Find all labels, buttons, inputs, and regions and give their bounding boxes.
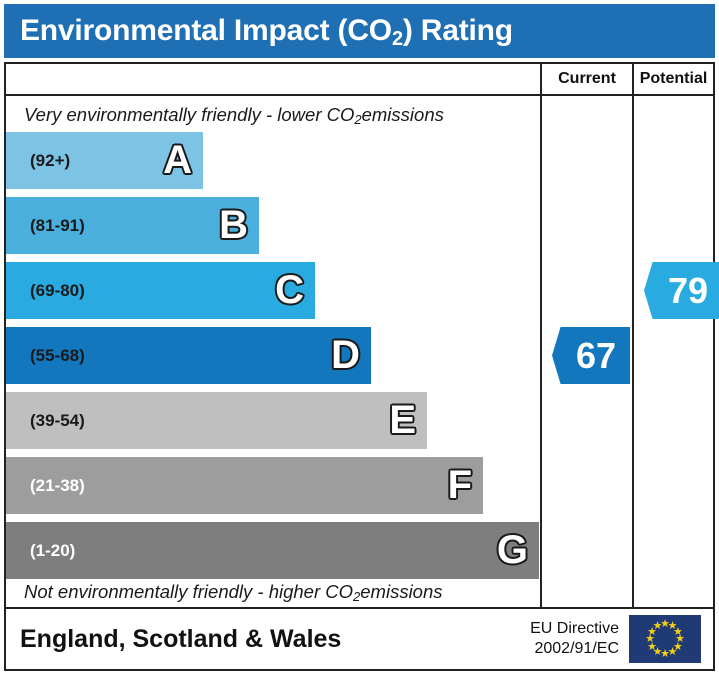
eu-flag-icon <box>629 615 701 663</box>
caption-bottom-prefix: Not environmentally friendly - higher CO <box>24 581 353 603</box>
rating-band-letter: F <box>448 465 472 505</box>
rating-band-a: (92+)A <box>6 132 203 189</box>
footer-directive-line2: 2002/91/EC <box>530 639 619 659</box>
caption-bottom-subscript: 2 <box>353 589 360 604</box>
column-header-current: Current <box>542 64 632 94</box>
epc-environmental-impact-chart: Environmental Impact (CO2) Rating Curren… <box>0 0 719 675</box>
current-rating-arrow: 67 <box>552 327 630 384</box>
footer-directive: EU Directive 2002/91/EC <box>530 619 629 658</box>
rating-band-letter: E <box>389 400 416 440</box>
column-divider-current <box>540 64 542 607</box>
page-title-suffix: ) Rating <box>403 14 513 47</box>
rating-band-range: (55-68) <box>6 346 85 366</box>
rating-band-range: (39-54) <box>6 411 85 431</box>
rating-band-range: (92+) <box>6 151 70 171</box>
caption-bottom-suffix: emissions <box>360 581 442 603</box>
rating-band-range: (81-91) <box>6 216 85 236</box>
column-header-row: Current Potential <box>6 64 713 96</box>
rating-band-letter: G <box>497 530 528 570</box>
caption-top-suffix: emissions <box>362 104 444 126</box>
rating-band-c: (69-80)C <box>6 262 315 319</box>
chart-footer: England, Scotland & Wales EU Directive 2… <box>4 609 715 671</box>
rating-band-e: (39-54)E <box>6 392 427 449</box>
rating-band-letter: D <box>331 335 360 375</box>
caption-top-subscript: 2 <box>354 112 361 127</box>
rating-band-range: (1-20) <box>6 541 75 561</box>
current-rating-value: 67 <box>576 338 630 374</box>
caption-top: Very environmentally friendly - lower CO… <box>24 100 534 130</box>
footer-region-label: England, Scotland & Wales <box>6 625 530 654</box>
caption-bottom: Not environmentally friendly - higher CO… <box>24 577 534 607</box>
rating-band-letter: C <box>275 270 304 310</box>
column-divider-potential <box>632 64 634 607</box>
potential-rating-value: 79 <box>668 273 719 309</box>
caption-top-prefix: Very environmentally friendly - lower CO <box>24 104 354 126</box>
page-title-subscript: 2 <box>392 28 403 50</box>
chart-title-banner: Environmental Impact (CO2) Rating <box>4 4 715 58</box>
potential-rating-arrow: 79 <box>644 262 719 319</box>
rating-band-letter: B <box>219 205 248 245</box>
rating-band-g: (1-20)G <box>6 522 539 579</box>
page-title: Environmental Impact (CO2) Rating <box>4 14 513 48</box>
page-title-prefix: Environmental Impact (CO <box>20 14 392 47</box>
chart-frame: Current Potential Very environmentally f… <box>4 62 715 609</box>
rating-band-letter: A <box>163 140 192 180</box>
rating-band-range: (69-80) <box>6 281 85 301</box>
rating-band-d: (55-68)D <box>6 327 371 384</box>
rating-band-b: (81-91)B <box>6 197 259 254</box>
footer-directive-line1: EU Directive <box>530 619 619 639</box>
column-header-potential: Potential <box>634 64 713 94</box>
rating-band-range: (21-38) <box>6 476 85 496</box>
rating-band-f: (21-38)F <box>6 457 483 514</box>
rating-band-list: (92+)A(81-91)B(69-80)C(55-68)D(39-54)E(2… <box>6 132 540 577</box>
